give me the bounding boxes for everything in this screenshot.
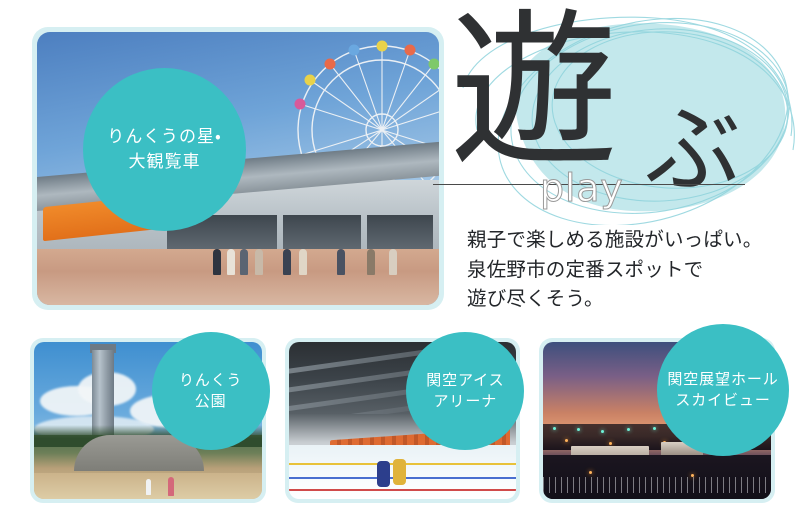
description-line-2: 泉佐野市の定番スポットで [467, 256, 797, 286]
hero-image: りんくうの星・ 大観覧車 [37, 32, 439, 305]
badge-line1: 関空展望ホール [667, 369, 778, 390]
plaza-ground [37, 249, 439, 305]
thumbnail-card-rinku-park[interactable]: りんくう 公園 [30, 338, 266, 503]
play-section: りんくうの星・ 大観覧車 遊 ぶ play 親子で楽しめる施設がいっぱい。 泉佐… [0, 0, 800, 515]
badge-line2: アリーナ [434, 391, 498, 412]
page-title-romaji: play [540, 166, 624, 210]
description-line-3: 遊び尽くそう。 [467, 285, 797, 315]
thumbnail-badge-rinku-park[interactable]: りんくう 公園 [152, 332, 270, 450]
hero-badge-line1: りんくうの星・ [107, 125, 222, 149]
description-line-1: 親子で楽しめる施設がいっぱい。 [467, 226, 797, 256]
title-block: 遊 ぶ play 親子で楽しめる施設がいっぱい。 泉佐野市の定番スポットで 遊び… [450, 14, 800, 314]
badge-line2: 公園 [195, 391, 227, 412]
thumbnail-badge-sky-view[interactable]: 関空展望ホール スカイビュー [657, 324, 789, 456]
thumbnail-card-ice-arena[interactable]: 関空アイス アリーナ [285, 338, 521, 503]
skater-mascot-1 [377, 461, 390, 487]
foreground-fence [543, 477, 771, 493]
hero-badge[interactable]: りんくうの星・ 大観覧車 [83, 68, 246, 231]
badge-line1: 関空アイス [426, 370, 504, 391]
thumbnail-card-sky-view[interactable]: 関空展望ホール スカイビュー [539, 338, 775, 503]
outlet-mall-building [37, 180, 439, 305]
hero-badge-line2: 大観覧車 [128, 150, 200, 174]
description-text: 親子で楽しめる施設がいっぱい。 泉佐野市の定番スポットで 遊び尽くそう。 [467, 226, 797, 315]
skater-mascot-2 [393, 459, 406, 485]
thumbnail-badge-ice-arena[interactable]: 関空アイス アリーナ [406, 332, 524, 450]
page-title-kanji: 遊 [450, 8, 618, 176]
hero-photo-card[interactable]: りんくうの星・ 大観覧車 [32, 27, 444, 310]
badge-line2: スカイビュー [675, 390, 770, 411]
badge-line1: りんくう [179, 370, 242, 391]
thumbnail-row: りんくう 公園 [30, 338, 775, 503]
